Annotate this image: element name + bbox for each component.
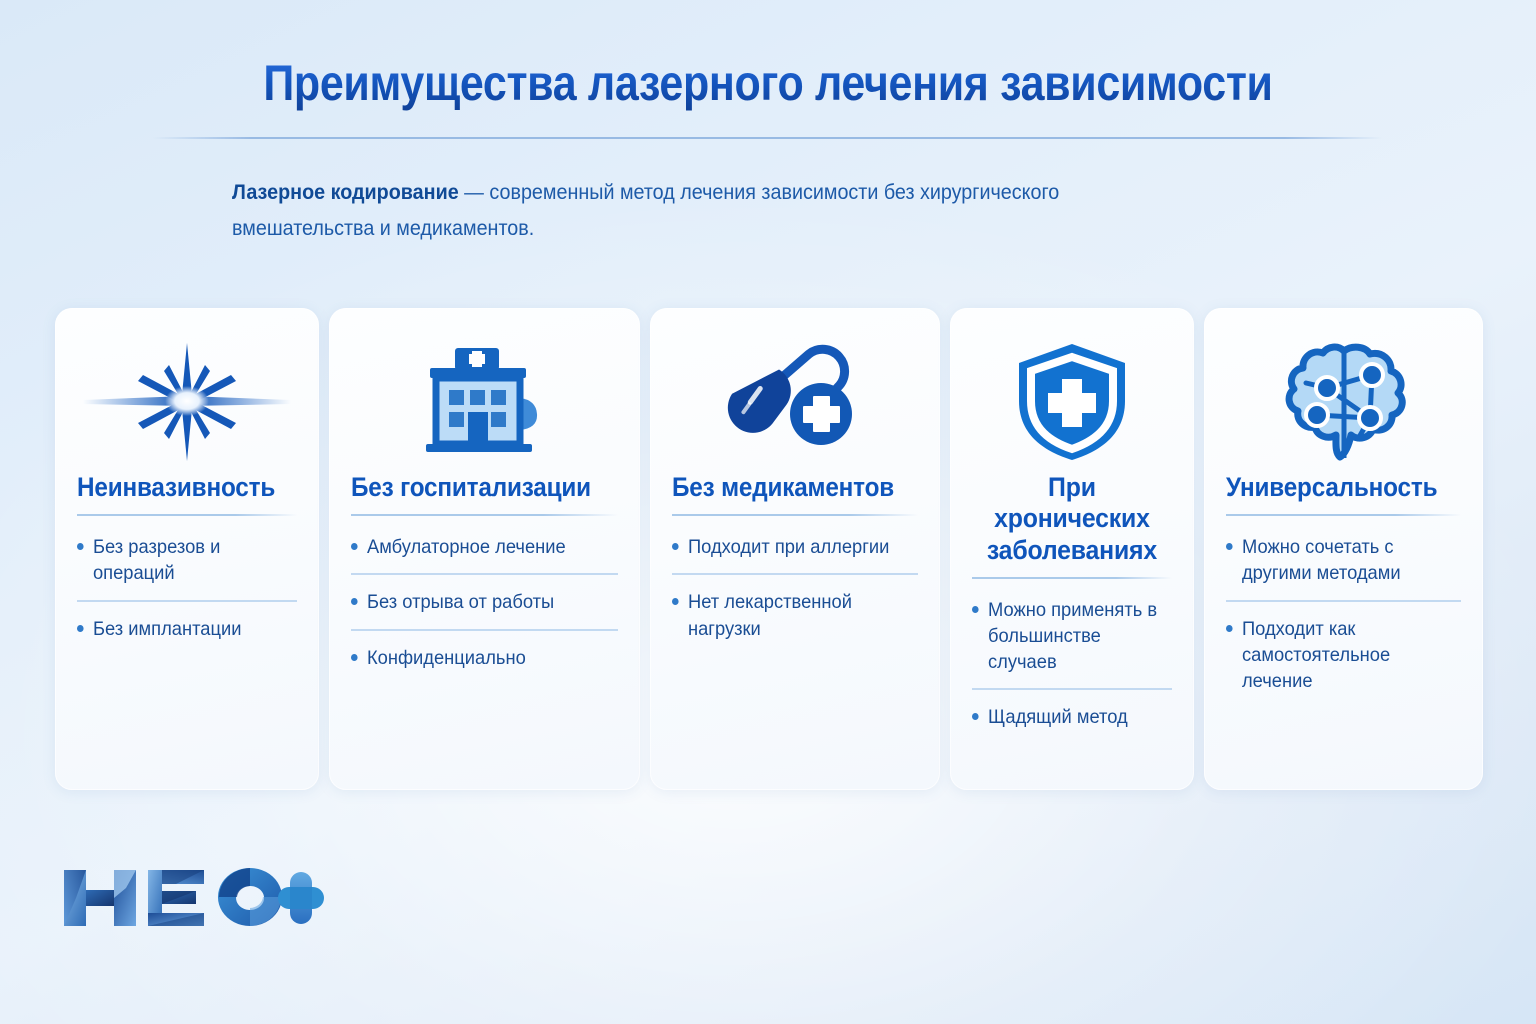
bullet-text: Без отрыва от работы (367, 589, 554, 615)
card-title: Неинвазивность (77, 472, 275, 503)
bullet-item: Амбулаторное лечение (351, 534, 602, 560)
card-title-divider (351, 514, 618, 516)
card-title-divider (972, 577, 1172, 579)
bullet-dot-icon (672, 598, 679, 605)
hospital-building-icon (351, 338, 618, 466)
bullet-item: Конфиденциально (351, 645, 602, 671)
neo-plus-logo[interactable]: НЕО+ (60, 858, 330, 936)
bullet-row: Амбулаторное лечение (351, 520, 618, 573)
benefit-card-noninvasive[interactable]: Неинвазивность Без разрезов и операций Б… (55, 308, 319, 790)
bullet-dot-icon (1226, 543, 1233, 550)
bullet-text: Можно применять в большинстве случаев (988, 597, 1160, 675)
card-title: При хронических заболеваниях (980, 472, 1164, 566)
bullet-item: Без разрезов и операций (77, 534, 284, 586)
card-title: Универсальность (1226, 472, 1437, 503)
bullet-list: Можно сочетать с другими методами Подход… (1226, 520, 1461, 707)
bullet-text: Нет лекарственной нагрузки (688, 589, 904, 641)
bullet-row: Можно применять в большинстве случаев (972, 583, 1172, 688)
bullet-dot-icon (77, 543, 84, 550)
bullet-text: Конфиденциально (367, 645, 526, 671)
bullet-row: Конфиденциально (351, 629, 618, 684)
logo-letter-n (64, 870, 136, 926)
brain-network-icon (1226, 338, 1461, 466)
bullet-list: Амбулаторное лечение Без отрыва от работ… (351, 520, 618, 683)
page-title: Преимущества лазерного лечения зависимос… (108, 56, 1429, 111)
bullet-text: Подходит как самостоятельное лечение (1242, 616, 1447, 694)
bullet-item: Без имплантации (77, 616, 284, 642)
bullet-dot-icon (672, 543, 679, 550)
logo-letter-o (218, 868, 282, 926)
bullet-row: Подходит как самостоятельное лечение (1226, 600, 1461, 707)
benefit-card-chronic-conditions[interactable]: При хронических заболеваниях Можно приме… (950, 308, 1194, 790)
benefit-card-no-hospitalization[interactable]: Без госпитализации Амбулаторное лечение … (329, 308, 640, 790)
benefit-card-row: Неинвазивность Без разрезов и операций Б… (55, 308, 1483, 790)
bullet-dot-icon (77, 625, 84, 632)
subtitle: Лазерное кодирование — современный метод… (232, 175, 1097, 247)
card-title: Без госпитализации (351, 472, 591, 503)
bullet-dot-icon (1226, 625, 1233, 632)
bullet-item: Можно сочетать с другими методами (1226, 534, 1447, 586)
subtitle-lead: Лазерное кодирование (232, 181, 459, 204)
infographic-canvas: Преимущества лазерного лечения зависимос… (0, 0, 1536, 1024)
bullet-text: Щадящий метод (988, 704, 1128, 730)
bullet-text: Без разрезов и операций (93, 534, 284, 586)
benefit-card-versatility[interactable]: Универсальность Можно сочетать с другими… (1204, 308, 1483, 790)
bullet-dot-icon (351, 543, 358, 550)
laser-burst-icon (77, 338, 297, 466)
bullet-row: Без отрыва от работы (351, 573, 618, 628)
logo-letter-e (148, 870, 204, 926)
bullet-row: Без разрезов и операций (77, 520, 297, 599)
bullet-row: Нет лекарственной нагрузки (672, 573, 919, 654)
bullet-list: Можно применять в большинстве случаев Ща… (972, 583, 1172, 744)
bullet-item: Подходит как самостоятельное лечение (1226, 616, 1447, 694)
card-title-divider (1226, 514, 1461, 516)
bullet-item: Без отрыва от работы (351, 589, 602, 615)
bullet-dot-icon (972, 606, 979, 613)
benefit-card-no-medication[interactable]: Без медикаментов Подходит при аллергии Н… (650, 308, 941, 790)
card-title: Без медикаментов (672, 472, 894, 503)
header: Преимущества лазерного лечения зависимос… (0, 0, 1536, 139)
bullet-row: Щадящий метод (972, 688, 1172, 743)
bullet-row: Подходит при аллергии (672, 520, 919, 573)
bullet-list: Подходит при аллергии Нет лекарственной … (672, 520, 919, 654)
bullet-item: Подходит при аллергии (672, 534, 904, 560)
bullet-dot-icon (351, 654, 358, 661)
bullet-text: Амбулаторное лечение (367, 534, 566, 560)
bullet-item: Можно применять в большинстве случаев (972, 597, 1160, 675)
bullet-dot-icon (351, 598, 358, 605)
bullet-list: Без разрезов и операций Без имплантации (77, 520, 297, 654)
shield-cross-icon (972, 338, 1172, 466)
bullet-text: Без имплантации (93, 616, 241, 642)
bullet-text: Подходит при аллергии (688, 534, 889, 560)
bullet-item: Щадящий метод (972, 704, 1160, 730)
card-title-divider (77, 514, 297, 516)
bullet-item: Нет лекарственной нагрузки (672, 589, 904, 641)
bullet-text: Можно сочетать с другими методами (1242, 534, 1447, 586)
logo-plus-icon (278, 872, 324, 924)
card-title-divider (672, 514, 919, 516)
bullet-row: Без имплантации (77, 600, 297, 655)
title-divider (153, 137, 1383, 139)
bullet-row: Можно сочетать с другими методами (1226, 520, 1461, 599)
pills-icon (672, 338, 919, 466)
bullet-dot-icon (972, 713, 979, 720)
